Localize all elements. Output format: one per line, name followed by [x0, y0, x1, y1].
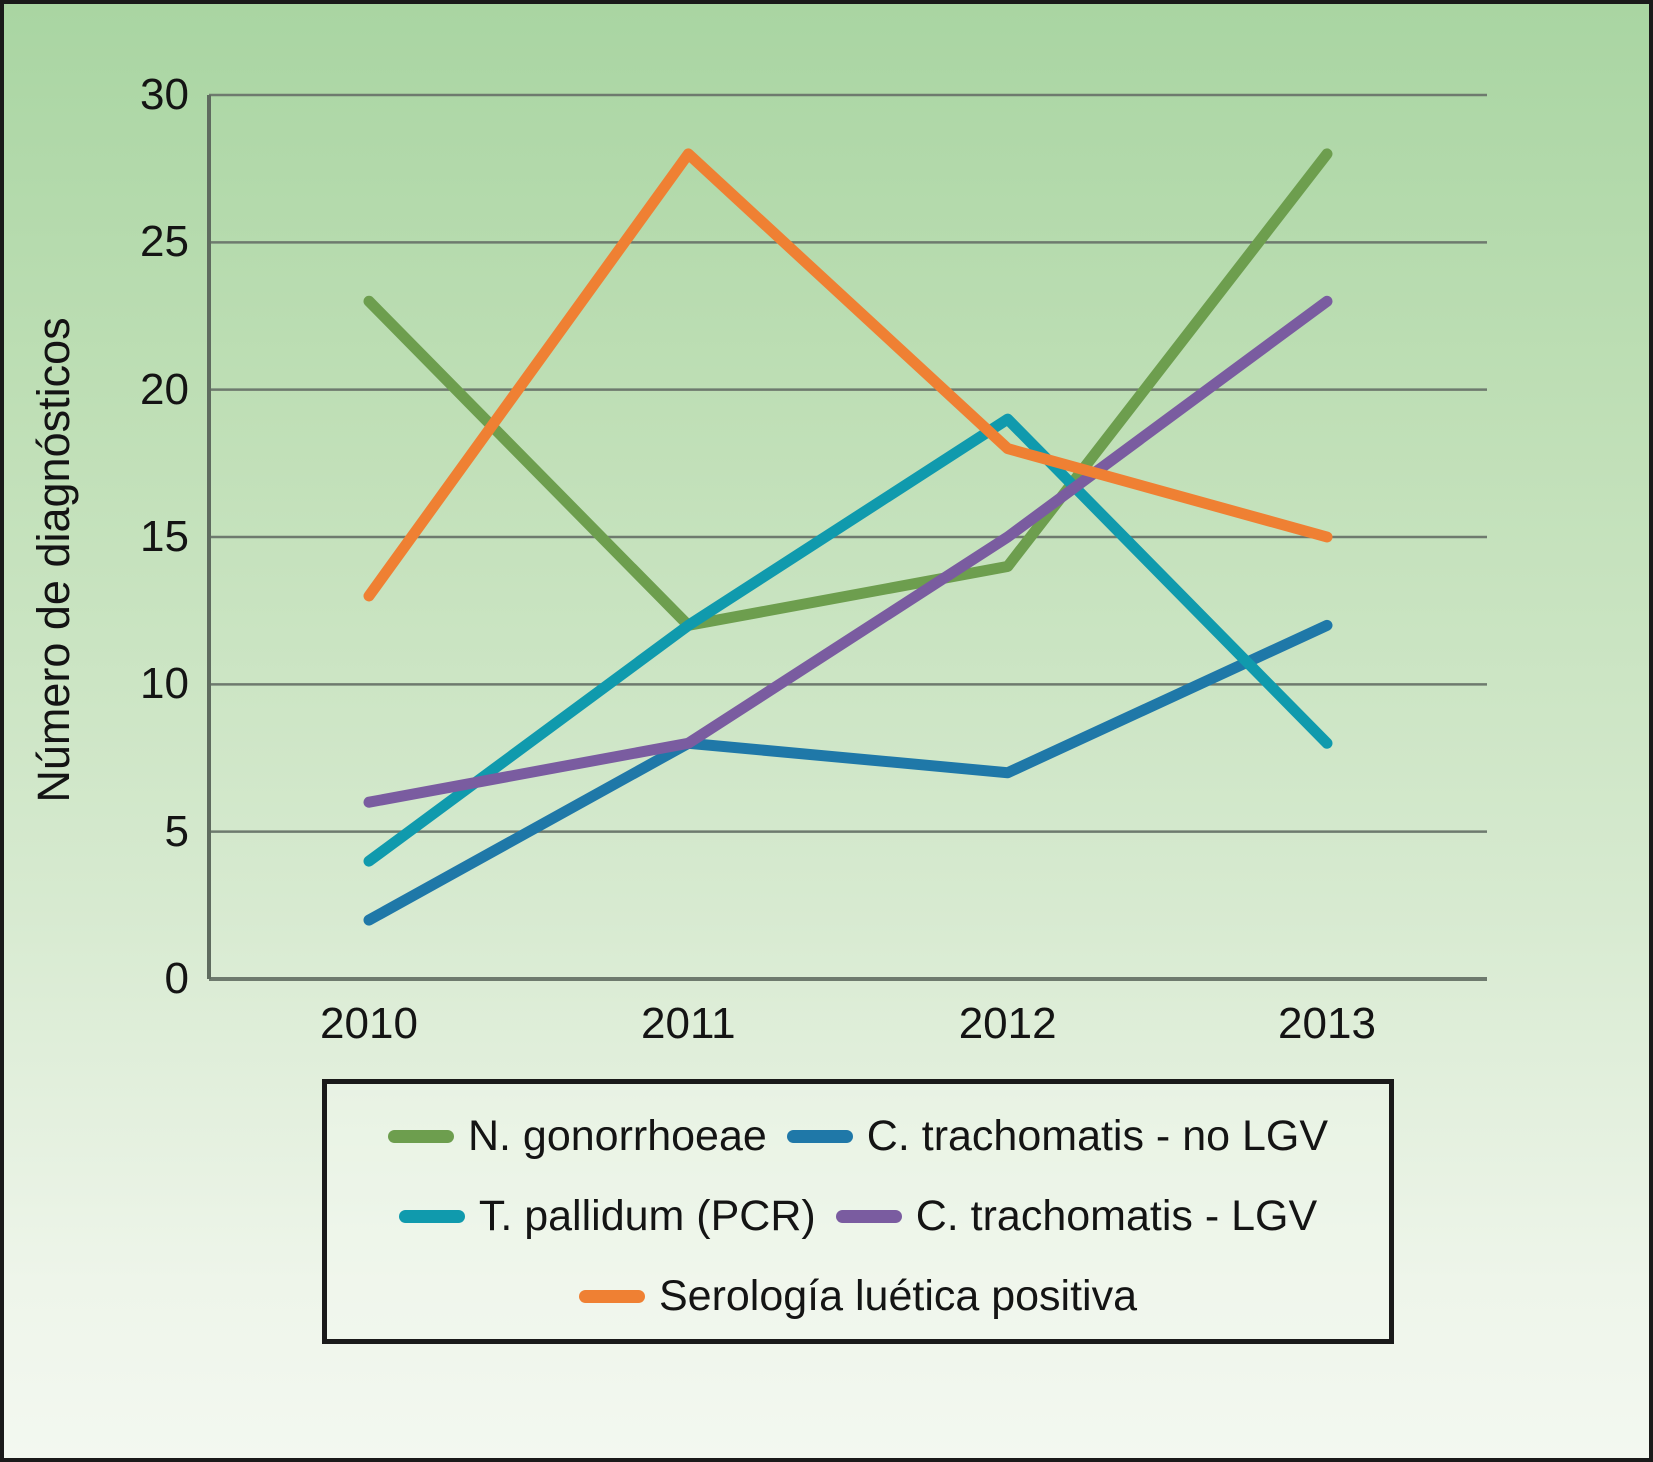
- legend-entry[interactable]: N. gonorrhoeae: [378, 1112, 777, 1161]
- y-tick-label: 15: [89, 512, 189, 562]
- legend-entry[interactable]: Serología luética positiva: [569, 1272, 1147, 1321]
- legend-entry[interactable]: C. trachomatis - LGV: [826, 1192, 1327, 1241]
- legend-line-swatch-icon: [787, 1130, 853, 1143]
- legend-line-swatch-icon: [399, 1210, 465, 1223]
- y-tick-label: 30: [89, 70, 189, 120]
- legend-label: Serología luética positiva: [659, 1272, 1137, 1321]
- legend-line-swatch-icon: [388, 1130, 454, 1143]
- legend-line-swatch-icon: [579, 1290, 645, 1303]
- legend-entry[interactable]: C. trachomatis - no LGV: [777, 1112, 1338, 1161]
- legend-row: Serología luética positiva: [327, 1256, 1389, 1336]
- y-tick-label: 25: [89, 217, 189, 267]
- y-tick-label: 20: [89, 365, 189, 415]
- legend-label: C. trachomatis - no LGV: [867, 1112, 1328, 1161]
- x-tick-label: 2011: [588, 999, 788, 1049]
- legend-row: T. pallidum (PCR)C. trachomatis - LGV: [327, 1176, 1389, 1256]
- series-line-3: [369, 301, 1327, 802]
- legend-label: N. gonorrhoeae: [468, 1112, 767, 1161]
- series-line-4: [369, 154, 1327, 596]
- x-tick-label: 2012: [908, 999, 1108, 1049]
- y-tick-label: 10: [89, 659, 189, 709]
- legend-label: C. trachomatis - LGV: [916, 1192, 1317, 1241]
- chart-legend: N. gonorrhoeaeC. trachomatis - no LGVT. …: [322, 1079, 1394, 1344]
- legend-row: N. gonorrhoeaeC. trachomatis - no LGV: [327, 1096, 1389, 1176]
- x-tick-label: 2010: [269, 999, 469, 1049]
- legend-line-swatch-icon: [836, 1210, 902, 1223]
- y-tick-label: 0: [89, 954, 189, 1004]
- legend-entry[interactable]: T. pallidum (PCR): [389, 1192, 826, 1241]
- legend-label: T. pallidum (PCR): [479, 1192, 816, 1241]
- chart-figure: Número de diagnósticos 051015202530 2010…: [0, 0, 1653, 1462]
- y-tick-label: 5: [89, 807, 189, 857]
- gridlines: [209, 95, 1487, 979]
- x-tick-label: 2013: [1227, 999, 1427, 1049]
